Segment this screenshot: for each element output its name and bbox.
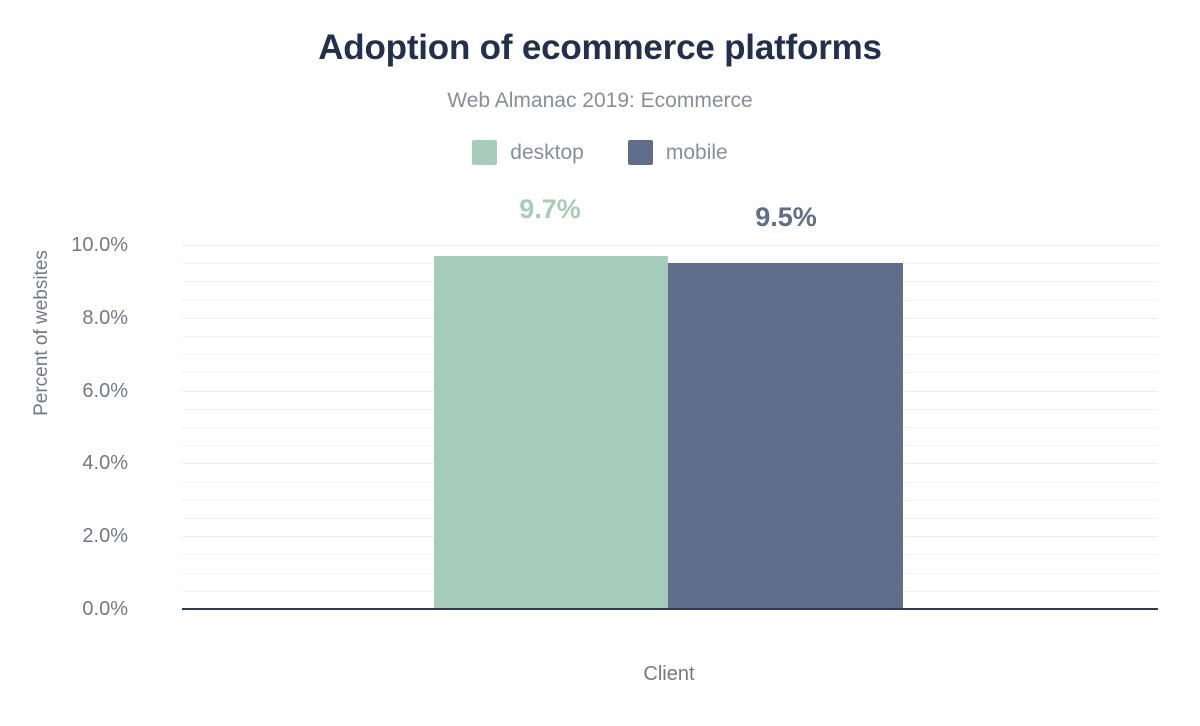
- bar-value-label-desktop: 9.7%: [430, 194, 670, 224]
- chart-title: Adoption of ecommerce platforms: [0, 26, 1200, 70]
- chart-legend: desktop mobile: [0, 140, 1200, 165]
- legend-label-mobile: mobile: [666, 140, 728, 165]
- bar-value-label-mobile: 9.5%: [666, 202, 906, 232]
- legend-swatch-mobile-icon: [628, 140, 653, 165]
- y-axis-tick-label: 8.0%: [0, 308, 128, 328]
- bar-mobile[interactable]: [668, 263, 903, 609]
- x-axis-title: Client: [169, 663, 1169, 686]
- legend-item-mobile[interactable]: mobile: [628, 140, 728, 165]
- y-axis-tick-label: 6.0%: [0, 381, 128, 401]
- legend-swatch-desktop-icon: [472, 140, 497, 165]
- gridline-major: [182, 245, 1158, 246]
- y-axis-title: Percent of websites: [31, 203, 53, 463]
- chart-container: Adoption of ecommerce platforms Web Alma…: [0, 0, 1200, 726]
- y-axis-tick-label: 10.0%: [0, 235, 128, 255]
- y-axis-tick-label: 2.0%: [0, 526, 128, 546]
- plot-area: 0.0%2.0%4.0%6.0%8.0%10.0%: [182, 245, 1158, 609]
- legend-label-desktop: desktop: [510, 140, 584, 165]
- legend-item-desktop[interactable]: desktop: [472, 140, 584, 165]
- y-axis-tick-label: 4.0%: [0, 453, 128, 473]
- x-axis-line: [182, 608, 1158, 610]
- chart-subtitle: Web Almanac 2019: Ecommerce: [0, 88, 1200, 114]
- y-axis-tick-label: 0.0%: [0, 599, 128, 619]
- bar-desktop[interactable]: [434, 256, 668, 609]
